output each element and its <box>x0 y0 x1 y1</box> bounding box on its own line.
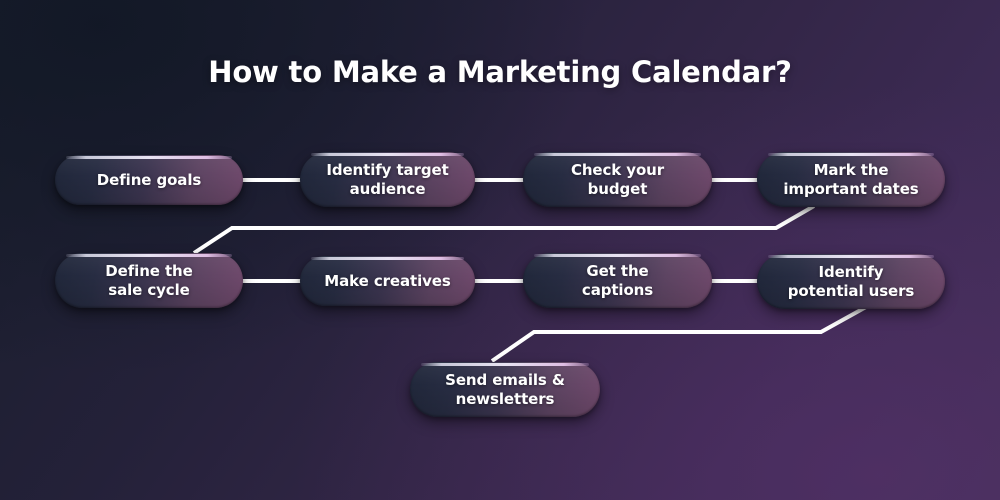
node-label-line2: newsletters <box>456 390 555 408</box>
node-label-line1: Define the <box>105 262 192 280</box>
connector-wrap-row1-row2 <box>194 206 814 253</box>
node-label: Identify potential users <box>788 263 914 300</box>
node-label-line2: important dates <box>783 180 918 198</box>
node-label: Check your budget <box>571 161 664 198</box>
node-check-your-budget[interactable]: Check your budget <box>523 152 712 207</box>
infographic-canvas: How to Make a Marketing Calendar? Define… <box>0 0 1000 500</box>
connector-wrap-row2-row3 <box>492 307 866 361</box>
node-label-line1: Identify target <box>326 161 448 179</box>
node-label: Mark the important dates <box>783 161 918 198</box>
node-label-line2: captions <box>582 281 653 299</box>
node-label: Define the sale cycle <box>105 262 192 299</box>
node-mark-important-dates[interactable]: Mark the important dates <box>757 152 945 207</box>
node-label-line1: Identify <box>818 263 883 281</box>
node-send-emails-newsletters[interactable]: Send emails & newsletters <box>410 362 600 417</box>
node-identify-potential-users[interactable]: Identify potential users <box>757 254 945 309</box>
node-label: Get the captions <box>582 262 653 299</box>
node-make-creatives[interactable]: Make creatives <box>300 256 475 306</box>
node-label-line1: Send emails & <box>445 371 565 389</box>
node-label: Identify target audience <box>326 161 448 198</box>
node-identify-target-audience[interactable]: Identify target audience <box>300 152 475 207</box>
node-label: Define goals <box>97 171 201 189</box>
node-label-line2: budget <box>588 180 648 198</box>
node-label-line2: sale cycle <box>108 281 189 299</box>
node-label-line1: Check your <box>571 161 664 179</box>
node-label-line1: Get the <box>586 262 648 280</box>
node-define-goals[interactable]: Define goals <box>55 155 243 205</box>
node-label: Make creatives <box>324 272 450 290</box>
node-label-line2: potential users <box>788 282 914 300</box>
node-label-line2: audience <box>350 180 426 198</box>
node-get-the-captions[interactable]: Get the captions <box>523 253 712 308</box>
node-label: Send emails & newsletters <box>445 371 565 408</box>
node-label-line1: Mark the <box>814 161 889 179</box>
page-title: How to Make a Marketing Calendar? <box>0 55 1000 89</box>
node-define-sale-cycle[interactable]: Define the sale cycle <box>55 253 243 308</box>
